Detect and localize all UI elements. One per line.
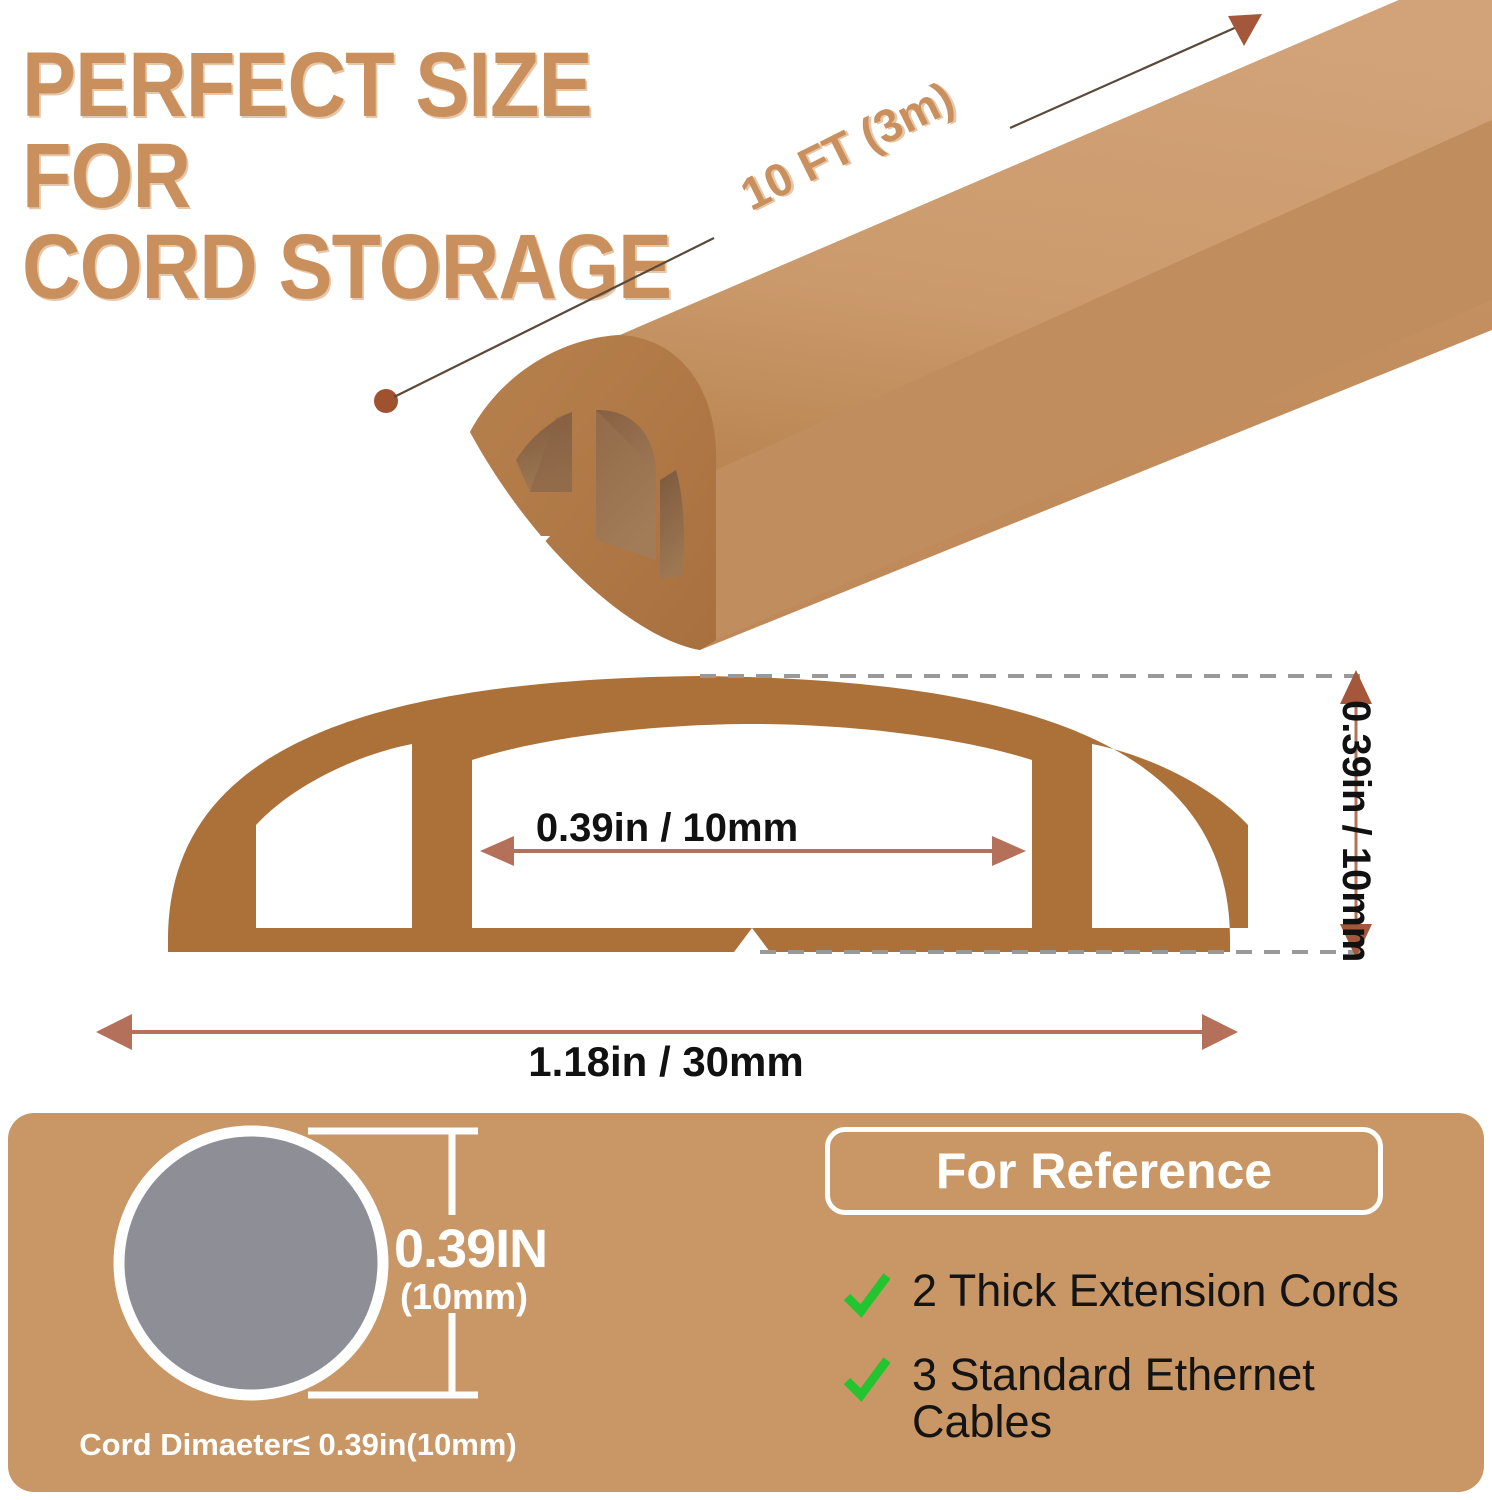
leader-dot bbox=[374, 389, 398, 413]
reference-panel: 0.39IN (10mm) Cord Dimaeter≤ 0.39in(10mm… bbox=[8, 1113, 1484, 1492]
check-icon bbox=[844, 1273, 890, 1319]
reference-item-label: 3 Standard Ethernet Cables bbox=[912, 1351, 1432, 1446]
arrow-head-icon bbox=[1228, 14, 1262, 46]
cord-cross-section-circle bbox=[119, 1131, 383, 1395]
cord-diameter-caption: Cord Dimaeter≤ 0.39in(10mm) bbox=[68, 1427, 528, 1463]
for-reference-badge: For Reference bbox=[825, 1127, 1383, 1215]
product-3d-illustration bbox=[0, 0, 1492, 700]
list-item: 2 Thick Extension Cords bbox=[844, 1267, 1399, 1319]
cord-diameter-metric: (10mm) bbox=[400, 1276, 528, 1318]
inner-width-label: 0.39in / 10mm bbox=[487, 806, 847, 851]
outer-width-label: 1.18in / 30mm bbox=[386, 1038, 946, 1086]
height-label: 0.39in / 10mm bbox=[1333, 700, 1378, 940]
for-reference-label: For Reference bbox=[936, 1142, 1272, 1200]
list-item: 3 Standard Ethernet Cables bbox=[844, 1351, 1432, 1446]
reference-item-label: 2 Thick Extension Cords bbox=[912, 1267, 1399, 1314]
check-icon bbox=[844, 1357, 890, 1403]
cover-body bbox=[470, 0, 1492, 650]
cross-section-diagram bbox=[0, 640, 1492, 1080]
infographic-canvas: PERFECT SIZE FOR CORD STORAGE bbox=[0, 0, 1492, 1500]
cord-diameter-value: 0.39IN bbox=[394, 1218, 547, 1280]
